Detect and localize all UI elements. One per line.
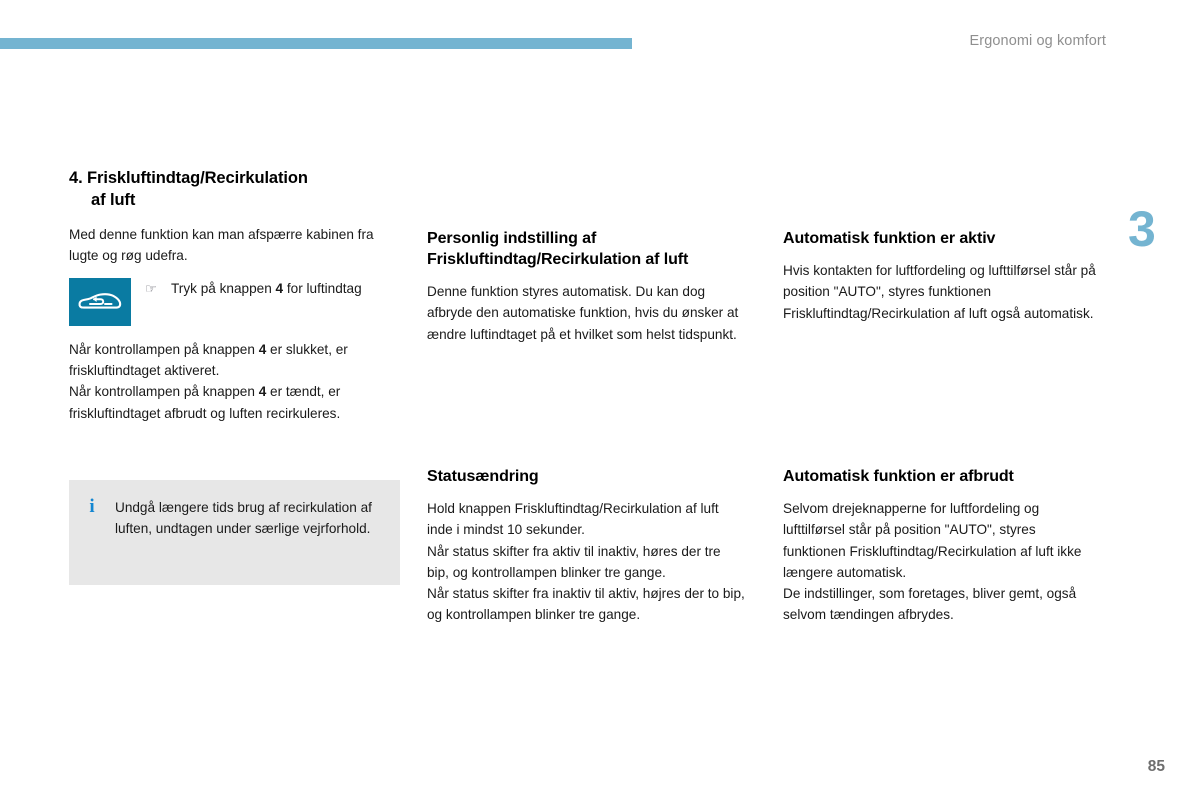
header-accent-bar [0,38,632,49]
lamp-off-text-a: Når kontrollampen på knappen [69,342,259,357]
auto-active-block: Automatisk funktion er aktiv Hvis kontak… [783,228,1098,324]
section-title-block: 4. Friskluftindtag/Recirkulation af luft [69,168,409,212]
callout-text-after: for luftindtag [283,281,362,296]
info-icon: i [69,497,115,518]
status-change-body-3: Når status skifter fra inaktiv til aktiv… [427,583,745,625]
auto-interrupted-body-2: De indstillinger, som foretages, bliver … [783,583,1098,625]
pointing-hand-icon: ☞ [131,278,171,298]
status-change-title: Statusændring [427,466,745,487]
page-title: 4. Friskluftindtag/Recirkulation af luft [69,168,409,212]
personal-setting-block: Personlig indstilling af Friskluftindtag… [427,228,745,345]
auto-active-body: Hvis kontakten for luftfordeling og luft… [783,260,1098,324]
personal-setting-title: Personlig indstilling af Friskluftindtag… [427,228,745,270]
column-1-paragraphs: Når kontrollampen på knappen 4 er slukke… [69,339,404,424]
car-recirculation-icon-box [69,278,131,326]
header-title: Ergonomi og komfort [970,33,1107,49]
auto-active-title: Automatisk funktion er aktiv [783,228,1098,249]
section-title-line-2: af luft [69,190,409,212]
status-change-block: Statusændring Hold knappen Friskluftindt… [427,466,745,625]
lamp-on-paragraph: Når kontrollampen på knappen 4 er tændt,… [69,381,404,423]
intro-paragraph-block: Med denne funktion kan man afspærre kabi… [69,224,404,266]
callout-button-number: 4 [276,281,284,296]
lamp-on-text-a: Når kontrollampen på knappen [69,384,259,399]
chapter-number: 3 [1128,204,1155,254]
lamp-off-paragraph: Når kontrollampen på knappen 4 er slukke… [69,339,404,381]
info-note-text: Undgå længere tids brug af recirkulation… [115,497,382,539]
auto-interrupted-body-1: Selvom drejeknapperne for luftfordeling … [783,498,1098,583]
icon-callout: ☞ Tryk på knappen 4 for luftindtag [69,278,409,326]
section-title-line-1: 4. Friskluftindtag/Recirkulation [69,169,308,187]
intro-paragraph: Med denne funktion kan man afspærre kabi… [69,224,404,266]
auto-interrupted-title: Automatisk funktion er afbrudt [783,466,1098,487]
status-change-body-2: Når status skifter fra aktiv til inaktiv… [427,541,745,583]
car-recirculation-icon [78,289,122,315]
auto-interrupted-block: Automatisk funktion er afbrudt Selvom dr… [783,466,1098,625]
personal-setting-body: Denne funktion styres automatisk. Du kan… [427,281,745,345]
info-note-box: i Undgå længere tids brug af recirkulati… [69,480,400,585]
page-number: 85 [1148,758,1165,776]
callout-text: Tryk på knappen 4 for luftindtag [171,278,409,299]
status-change-body-1: Hold knappen Friskluftindtag/Recirkulati… [427,498,745,540]
callout-text-before: Tryk på knappen [171,281,276,296]
